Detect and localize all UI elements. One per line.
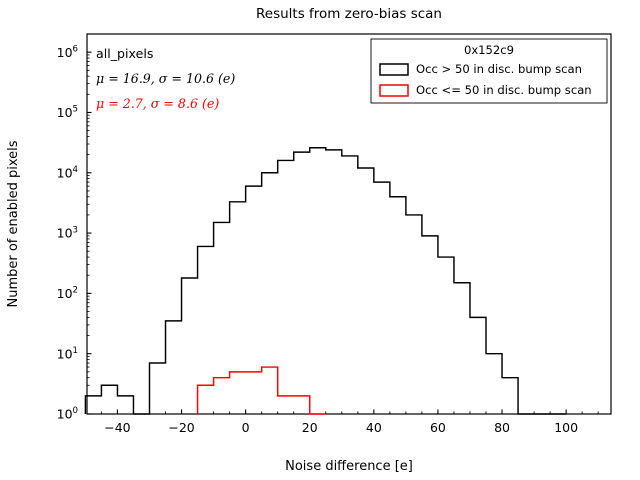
black-stats-label: μ = 16.9, σ = 10.6 (e) <box>96 71 235 86</box>
x-tick-label: 100 <box>554 420 578 435</box>
legend-label: Occ <= 50 in disc. bump scan <box>416 83 592 97</box>
y-tick-label: 103 <box>57 225 78 240</box>
x-tick-label: −20 <box>168 420 194 435</box>
x-tick-label: −40 <box>104 420 130 435</box>
y-axis-label: Number of enabled pixels <box>6 140 21 307</box>
y-tick-label: 101 <box>57 346 78 361</box>
x-tick-label: 0 <box>242 420 250 435</box>
x-tick-label: 80 <box>494 420 510 435</box>
x-axis-label: Noise difference [e] <box>285 459 413 474</box>
group-label: all_pixels <box>96 46 153 61</box>
page-title: Results from zero-bias scan <box>256 6 442 22</box>
x-tick-label: 20 <box>302 420 318 435</box>
y-tick-label: 106 <box>57 44 78 59</box>
y-tick-label: 102 <box>57 286 78 301</box>
x-tick-label: 40 <box>366 420 382 435</box>
histogram-plot: Results from zero-bias scan −40−20020406… <box>0 0 640 480</box>
y-tick-label: 100 <box>57 406 78 421</box>
legend[interactable]: 0x152c9Occ > 50 in disc. bump scanOcc <=… <box>371 39 607 103</box>
y-axis-ticks: 100101102103104105106 <box>57 34 92 422</box>
y-tick-label: 105 <box>57 105 78 120</box>
x-tick-label: 60 <box>430 420 446 435</box>
data-series-group <box>85 148 566 414</box>
histogram-step-red <box>198 367 326 414</box>
chart-title-group: Results from zero-bias scan <box>256 6 442 22</box>
figure-canvas: Results from zero-bias scan −40−20020406… <box>0 0 640 480</box>
red-stats-label: μ = 2.7, σ = 8.6 (e) <box>96 96 219 111</box>
y-tick-label: 104 <box>57 165 78 180</box>
stats-annotations: all_pixels μ = 16.9, σ = 10.6 (e) μ = 2.… <box>96 46 235 111</box>
histogram-step-black <box>85 148 566 414</box>
legend-title: 0x152c9 <box>464 43 514 57</box>
legend-label: Occ > 50 in disc. bump scan <box>416 62 582 76</box>
